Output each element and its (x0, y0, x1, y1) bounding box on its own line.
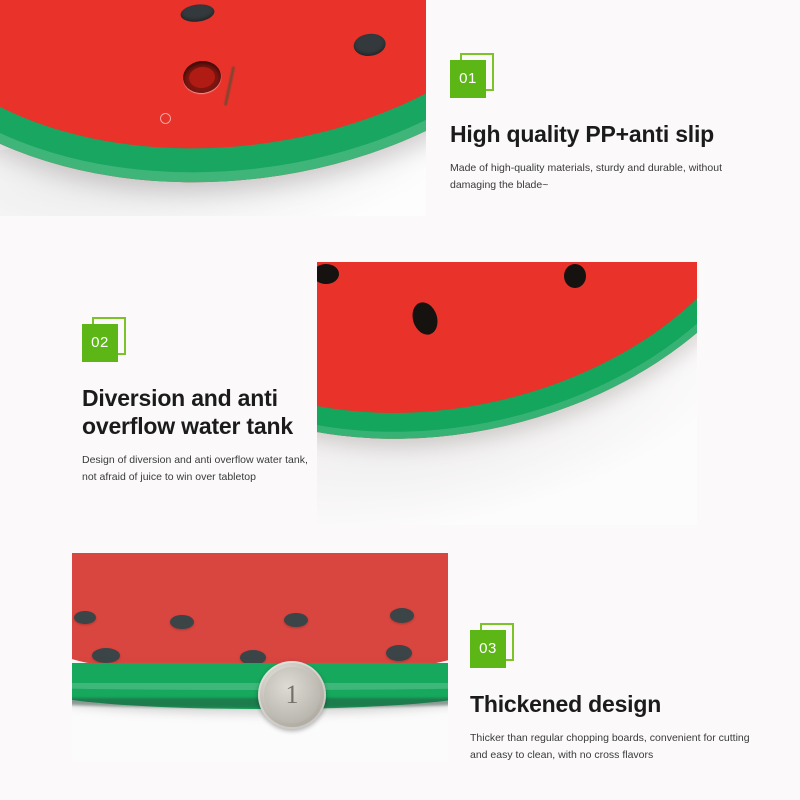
coin-denomination: 1 (258, 661, 326, 729)
feature-title-2: Diversion and anti overflow water tank (82, 384, 322, 440)
seed-icon (564, 264, 586, 288)
photo-2-scene (317, 262, 697, 525)
seed-icon (170, 615, 194, 629)
feature-photo-2 (317, 262, 697, 525)
feature-block-2: 02 Diversion and anti overflow water tan… (82, 322, 322, 487)
feature-description-3: Thicker than regular chopping boards, co… (470, 730, 770, 765)
feature-number-badge-2: 02 (82, 322, 128, 366)
seed-icon (284, 613, 308, 627)
feature-description-2: Design of diversion and anti overflow wa… (82, 452, 322, 487)
feature-number-2: 02 (82, 324, 118, 362)
photo-1-mold-mark (160, 113, 171, 124)
feature-block-1: 01 High quality PP+anti slip Made of hig… (450, 58, 750, 195)
seed-icon (74, 611, 96, 624)
feature-block-3: 03 Thickened design Thicker than regular… (470, 628, 770, 765)
infographic-page: 01 High quality PP+anti slip Made of hig… (0, 0, 800, 800)
feature-description-1: Made of high-quality materials, sturdy a… (450, 160, 750, 195)
feature-photo-1 (0, 0, 426, 216)
feature-number-1: 01 (450, 60, 486, 98)
seed-icon (386, 645, 412, 661)
seed-icon (92, 648, 120, 663)
feature-photo-3: 1 (72, 553, 448, 762)
feature-title-3: Thickened design (470, 690, 770, 718)
feature-number-badge-1: 01 (450, 58, 496, 102)
seed-icon (390, 608, 414, 623)
feature-number-3: 03 (470, 630, 506, 668)
photo-3-scene: 1 (72, 553, 448, 762)
photo-1-scene (0, 0, 426, 216)
feature-title-1: High quality PP+anti slip (450, 120, 750, 148)
feature-number-badge-3: 03 (470, 628, 516, 672)
hanging-hole-inner (188, 65, 216, 89)
coin-scale-reference: 1 (258, 661, 326, 729)
